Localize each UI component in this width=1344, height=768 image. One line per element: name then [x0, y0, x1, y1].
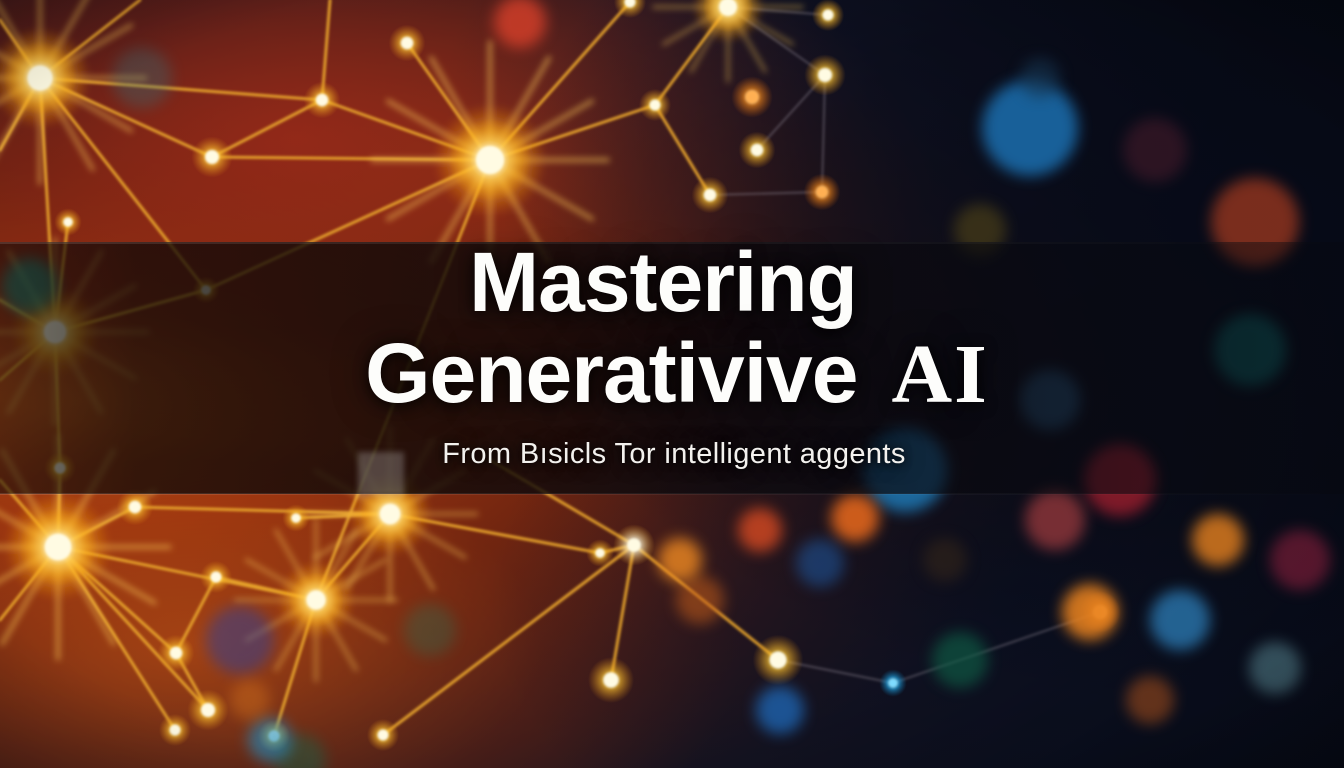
band-top-edge — [0, 242, 1344, 244]
artifact-gray-patch — [358, 452, 404, 496]
hero-banner: Mastering GenerativiveAI From Bısicls To… — [0, 0, 1344, 768]
band-bottom-edge — [0, 493, 1344, 495]
title-overlay-band — [0, 242, 1344, 494]
